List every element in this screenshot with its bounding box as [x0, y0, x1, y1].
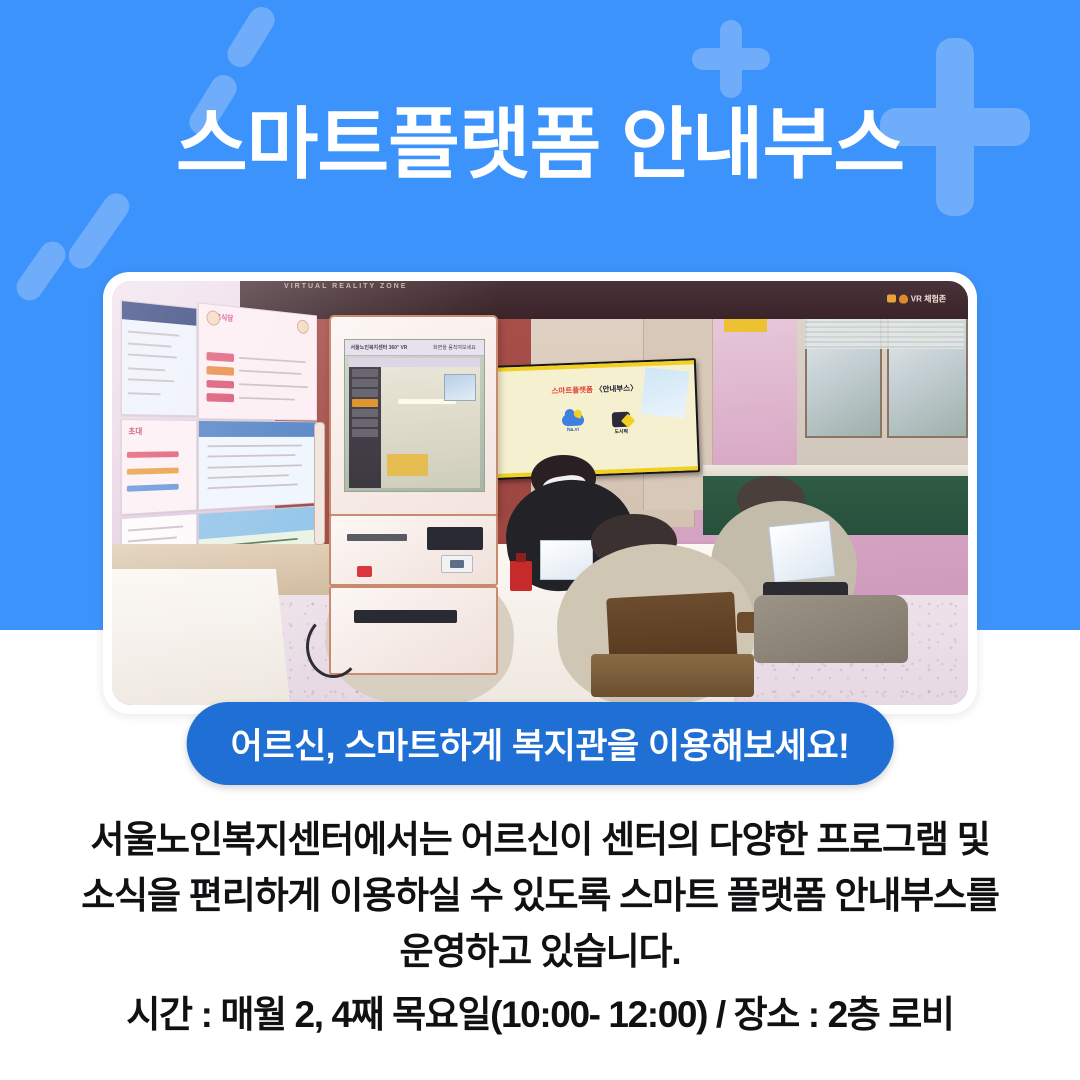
poster-text-line	[238, 396, 294, 400]
photo-poster: 경로식당	[197, 302, 316, 420]
decor-capsule-icon	[11, 237, 70, 306]
schedule-location-line: 시간 : 매월 2, 4째 목요일(10:00- 12:00) / 장소 : 2…	[60, 987, 1020, 1043]
description-line-3: 운영하고 있습니다.	[60, 924, 1020, 980]
photo-side-table	[112, 569, 290, 705]
kiosk-screen-header-right: 화면을 움직여보세요	[433, 344, 476, 351]
description-line-2: 소식을 편리하게 이용하실 수 있도록 스마트 플랫폼 안내부스를	[60, 868, 1020, 924]
kiosk-vr-view	[381, 367, 480, 488]
kiosk-screen-header: 서울노인복지센터 360° VR 화면을 움직여보세요	[345, 340, 484, 356]
poster-sky-graphic	[198, 507, 316, 539]
photo-drink-bottle	[510, 561, 532, 591]
kiosk-menu-item	[352, 379, 378, 387]
poster-text-line	[207, 454, 295, 457]
kiosk-browser-toolbar	[349, 358, 480, 367]
plus-horizontal-bar	[692, 48, 770, 70]
poster-text-line	[127, 378, 174, 382]
kiosk-browser-window	[349, 358, 480, 488]
kiosk-touchscreen: 서울노인복지센터 360° VR 화면을 움직여보세요	[344, 339, 485, 493]
kiosk-upper-body: 서울노인복지센터 360° VR 화면을 움직여보세요	[329, 315, 499, 518]
photo-poster	[197, 420, 316, 510]
poster-band	[122, 300, 196, 325]
poster-text-line	[207, 464, 302, 468]
decor-plus-icon	[692, 20, 770, 98]
poster-chip	[126, 483, 178, 492]
photo-bulletin-board: 경로식당 초대	[121, 294, 334, 578]
photo-poster: 초대	[121, 419, 197, 515]
poster-text-line	[207, 483, 297, 489]
kiosk-menu-list	[349, 367, 380, 488]
kiosk-menu-item	[352, 369, 378, 377]
promo-card: 스마트플랫폼 안내부스 VIRTUAL REALITY ZONE	[0, 0, 1080, 1080]
photo-zone-header-band: VIRTUAL REALITY ZONE VR 체험존	[240, 281, 968, 319]
kiosk-vr-thumbnail	[444, 374, 476, 400]
photo-tv-title-black: 〈안내부스〉	[593, 383, 638, 394]
photo-tv-icon-row: Na.vi 도시락	[495, 409, 697, 440]
poster-chip	[206, 379, 234, 388]
vr-headset-icon	[899, 294, 908, 303]
kiosk-menu-item	[352, 429, 378, 437]
poster-text-line	[127, 367, 165, 371]
event-photo: VIRTUAL REALITY ZONE VR 체험존 스마트플랫폼 〈안내부스…	[112, 281, 968, 705]
poster-text-line	[238, 356, 305, 362]
description-block: 서울노인복지센터에서는 어르신이 센터의 다양한 프로그램 및 소식을 편리하게…	[60, 812, 1020, 1043]
poster-text-line	[127, 392, 160, 395]
photo-tv-lunch-item: 도시락	[611, 411, 630, 435]
lunchbox-icon	[611, 411, 630, 427]
photo-front-chair-seat	[591, 654, 754, 696]
page-title: 스마트플랫폼 안내부스	[0, 104, 1080, 186]
poster-text-line	[238, 383, 307, 388]
poster-chip	[126, 467, 178, 475]
kiosk-side-handle	[314, 422, 325, 545]
poster-text-line	[127, 525, 182, 531]
kiosk-reader-panel	[427, 527, 483, 550]
kiosk-power-cable	[306, 615, 361, 678]
description-line-1: 서울노인복지센터에서는 어르신이 센터의 다양한 프로그램 및	[60, 812, 1020, 868]
photo-poster	[121, 299, 197, 416]
kiosk-menu-item-selected	[352, 399, 378, 407]
photo-vr-sign-text: VR 체험존	[911, 293, 946, 304]
poster-text-line	[127, 353, 177, 358]
poster-face-graphic	[297, 319, 309, 334]
photo-leaflet-stand	[768, 520, 836, 583]
poster-text-line	[127, 536, 177, 542]
photo-tv-navi-label: Na.vi	[567, 426, 579, 432]
photo-tv-navi-item: Na.vi	[561, 413, 584, 433]
photo-tv-title-red: 스마트플랫폼	[551, 385, 593, 396]
poster-chip	[126, 451, 178, 458]
photo-frame: VIRTUAL REALITY ZONE VR 체험존 스마트플랫폼 〈안내부스…	[103, 272, 977, 714]
photo-vr-sign: VR 체험존	[887, 293, 946, 304]
highlight-pill-banner: 어르신, 스마트하게 복지관을 이용해보세요!	[187, 702, 894, 785]
poster-text-line	[207, 445, 302, 448]
photo-zone-header-text: VIRTUAL REALITY ZONE	[284, 283, 407, 290]
kiosk-nfc-pad	[441, 555, 473, 573]
kiosk-menu-item	[352, 389, 378, 397]
photo-armchair	[754, 595, 908, 663]
photo-wall-tv: 스마트플랫폼 〈안내부스〉 Na.vi 도시락	[491, 358, 701, 480]
kiosk-screen-header-left: 서울노인복지센터 360° VR	[351, 344, 408, 351]
poster-chip	[206, 352, 234, 362]
poster-face-graphic	[206, 310, 219, 326]
decor-capsule-icon	[64, 188, 135, 273]
decor-capsule-icon	[222, 2, 279, 72]
kiosk-middle-panel	[329, 514, 499, 586]
cloud-icon	[561, 413, 583, 426]
kiosk-red-label-icon	[357, 566, 372, 577]
kiosk-vr-desks	[387, 454, 429, 476]
photo-tv-lunch-label: 도시락	[614, 427, 628, 435]
kiosk-printer-slot	[354, 610, 457, 624]
kiosk-menu-item	[352, 409, 378, 417]
poster-chip	[206, 366, 234, 375]
poster-chip	[206, 393, 234, 402]
vr-badge-icon	[887, 295, 896, 303]
poster-text-line	[127, 342, 171, 347]
kiosk-card-slot	[347, 534, 407, 541]
kiosk-menu-item	[352, 419, 378, 427]
poster-heading: 초대	[128, 425, 142, 436]
poster-text-line	[207, 474, 289, 479]
photo-tv-screen: 스마트플랫폼 〈안내부스〉 Na.vi 도시락	[493, 360, 699, 478]
poster-text-line	[238, 370, 300, 375]
poster-text-line	[127, 330, 179, 336]
photo-smart-kiosk: 서울노인복지센터 360° VR 화면을 움직여보세요	[317, 315, 505, 671]
poster-band	[198, 421, 316, 437]
